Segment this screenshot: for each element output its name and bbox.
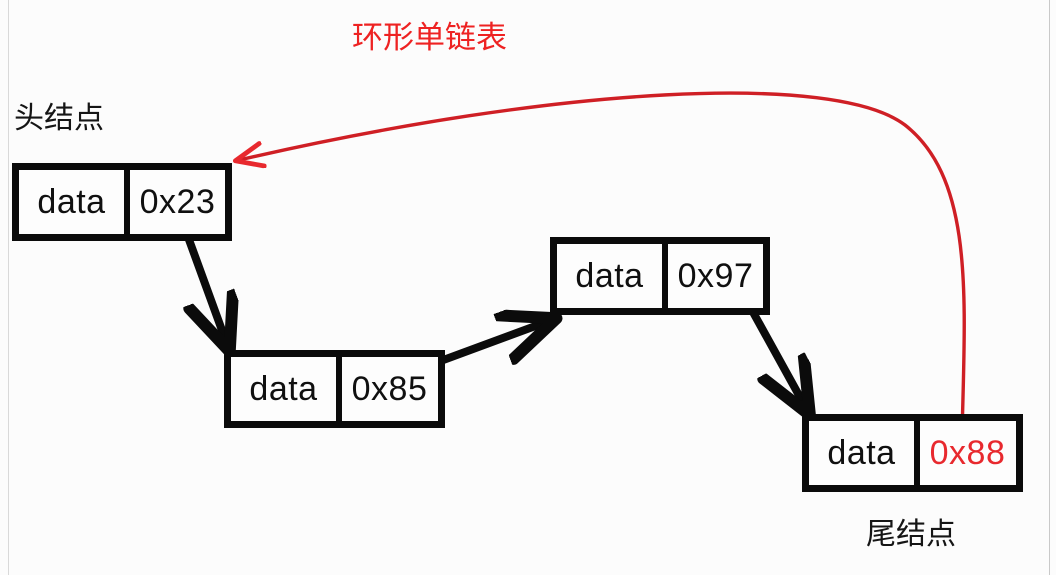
linked-list-node-3[interactable]: data 0x97 [550, 237, 770, 315]
page-edge-left [8, 0, 9, 575]
node-4-data-cell: data [809, 421, 914, 485]
linked-list-node-head[interactable]: data 0x23 [12, 163, 232, 241]
diagram-canvas: 环形单链表 头结点 尾结点 data 0x23 data 0x85 data 0… [0, 0, 1056, 575]
node-3-next-pointer-cell: 0x97 [662, 244, 763, 308]
node-2-next-pointer-cell: 0x85 [336, 357, 437, 421]
linked-list-node-tail[interactable]: data 0x88 [802, 414, 1023, 492]
node-2-data-cell: data [231, 357, 336, 421]
diagram-title: 环形单链表 [352, 22, 507, 53]
node-4-next-pointer-cell: 0x88 [914, 421, 1015, 485]
node-3-data-cell: data [557, 244, 662, 308]
head-node-label: 头结点 [14, 104, 104, 134]
node-1-data-cell: data [19, 170, 124, 234]
page-edge-right [1049, 0, 1050, 575]
node-1-next-pointer-cell: 0x23 [124, 170, 225, 234]
linked-list-node-2[interactable]: data 0x85 [224, 350, 445, 428]
tail-node-label: 尾结点 [866, 520, 956, 550]
